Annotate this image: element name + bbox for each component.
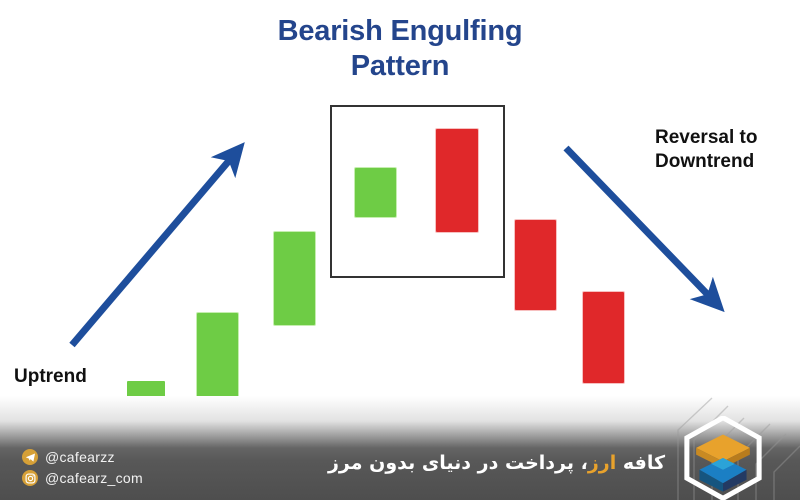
slogan-rest: ، پرداخت در دنیای بدون مرز — [328, 452, 588, 474]
candle-6-bearish — [515, 220, 556, 310]
social-row-telegram[interactable]: @cafearzz — [22, 448, 143, 466]
telegram-icon — [22, 449, 38, 465]
candle-7-bearish — [583, 292, 624, 383]
slogan-highlight: ارز — [588, 452, 616, 474]
reversal-to-downtrend-label: Reversal to Downtrend — [655, 126, 757, 174]
instagram-icon — [22, 470, 38, 486]
uptrend-label: Uptrend — [14, 365, 87, 389]
infographic-canvas: Bearish Engulfing Pattern Uptrend Revers… — [0, 0, 800, 500]
slogan-lead: کافه — [616, 452, 665, 474]
brand-slogan: کافه ارز، پرداخت در دنیای بدون مرز — [328, 452, 665, 474]
social-row-instagram[interactable]: @cafearz_com — [22, 469, 143, 487]
telegram-handle: @cafearzz — [45, 449, 115, 465]
engulfing-highlight-box — [330, 105, 505, 278]
brand-footer-banner: @cafearzz @cafearz_com کافه ارز، پرداخت … — [0, 396, 800, 500]
candle-3-bullish — [274, 232, 315, 325]
candle-2-bullish — [197, 313, 238, 397]
cafearz-cube-logo — [680, 416, 766, 500]
candlestick-chart: Uptrend Reversal to Downtrend — [0, 0, 800, 440]
instagram-handle: @cafearz_com — [45, 470, 143, 486]
social-handles: @cafearzz @cafearz_com — [22, 448, 143, 487]
